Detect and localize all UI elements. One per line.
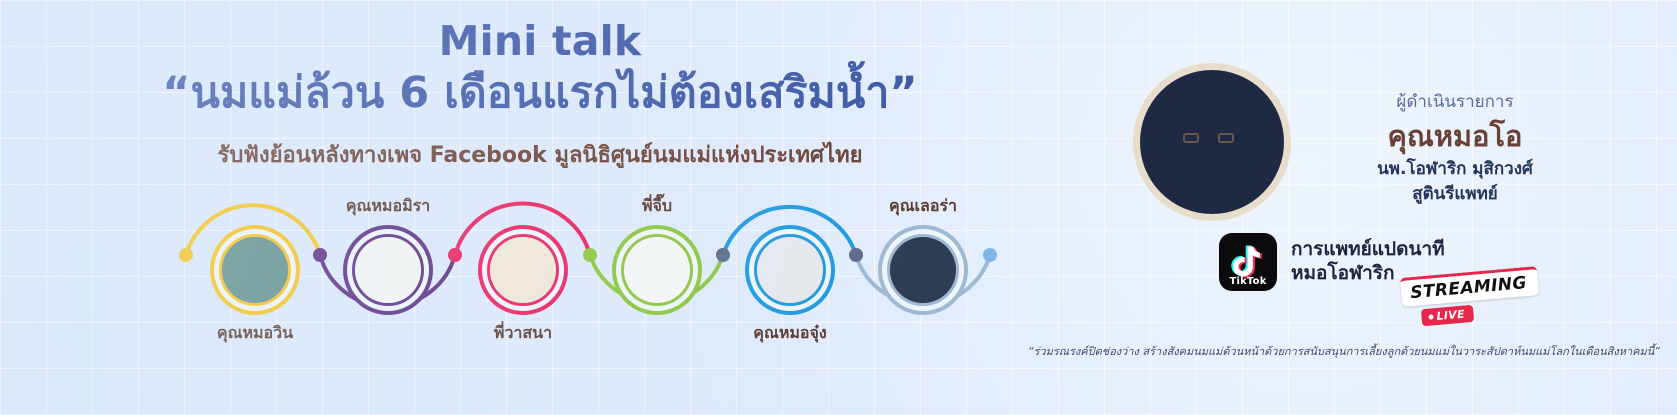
headline-block: Mini talk “นมแม่ล้วน 6 เดือนแรกไม่ต้องเส…	[0, 20, 1080, 172]
headline-quote: “นมแม่ล้วน 6 เดือนแรกไม่ต้องเสริมน้ำ”	[0, 67, 1080, 121]
promo-banner: Mini talk “นมแม่ล้วน 6 เดือนแรกไม่ต้องเส…	[0, 0, 1677, 415]
live-label: LIVE	[1436, 308, 1465, 323]
disclaimer-text: “ร่วมรณรงค์ปิดช่องว่าง สร้างสังคมนมแม่ด้…	[840, 342, 1660, 360]
page-title: Mini talk	[0, 20, 1080, 63]
host-avatar	[1133, 63, 1291, 221]
headline-subtitle: รับฟังย้อนหลังทางเพจ Facebook มูลนิธิศูน…	[0, 137, 1080, 172]
speaker-4[interactable]: พี่จี๊บ	[612, 225, 702, 315]
speaker-4-name: พี่จี๊บ	[642, 194, 672, 219]
speaker-6[interactable]: คุณเลอร่า	[878, 225, 968, 315]
speaker-1-name: คุณหมอวิน	[217, 321, 293, 346]
speaker-1-photo	[222, 237, 288, 303]
host-full-name: นพ.โอฬาริก มุสิกวงศ์	[1290, 158, 1620, 181]
live-dot-icon	[1428, 314, 1433, 319]
host-photo	[1140, 70, 1284, 214]
speaker-2[interactable]: คุณหมอมิรา	[343, 225, 433, 315]
speaker-3-photo	[490, 237, 556, 303]
speaker-5-name: คุณหมอจุ๋ง	[753, 321, 826, 346]
speaker-1[interactable]: คุณหมอวิน	[210, 225, 300, 315]
tiktok-wordmark: TikTok	[1219, 276, 1277, 287]
speaker-3[interactable]: พี่วาสนา	[478, 225, 568, 315]
speakers-timeline: วิทยากร	[0, 175, 1060, 350]
channel-line-1: การแพทย์แปดนาที	[1291, 238, 1445, 262]
speaker-4-photo	[624, 237, 690, 303]
host-role: ผู้ดำเนินรายการ	[1290, 88, 1620, 115]
host-specialty: สูตินรีแพทย์	[1290, 183, 1620, 206]
tiktok-icon[interactable]: TikTok	[1219, 233, 1277, 291]
streaming-badge: STREAMING LIVE	[1400, 266, 1541, 328]
speaker-6-photo	[890, 237, 956, 303]
live-badge: LIVE	[1421, 305, 1475, 326]
speaker-2-name: คุณหมอมิรา	[346, 194, 430, 219]
speaker-3-name: พี่วาสนา	[494, 321, 552, 346]
host-info: ผู้ดำเนินรายการ คุณหมอโอ นพ.โอฬาริก มุสิ…	[1290, 88, 1620, 206]
speaker-5[interactable]: คุณหมอจุ๋ง	[745, 225, 835, 315]
speaker-2-photo	[355, 237, 421, 303]
host-name: คุณหมอโอ	[1290, 117, 1620, 156]
speaker-6-name: คุณเลอร่า	[889, 194, 957, 219]
speaker-5-photo	[757, 237, 823, 303]
